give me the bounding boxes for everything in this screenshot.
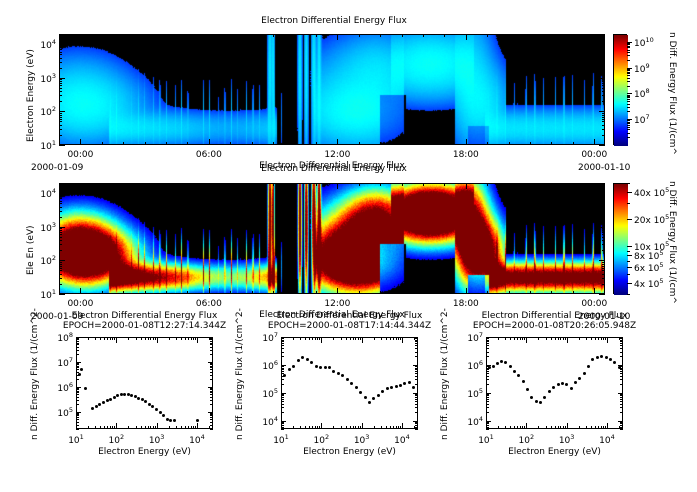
data-point <box>390 386 393 389</box>
spectrum-3-ytick-minor-right <box>620 340 623 341</box>
panel2-ytick-minor-right <box>602 217 605 218</box>
spectrum-1-xtick-minor <box>110 426 111 429</box>
panel1-ytick-minor <box>59 34 62 35</box>
panel2-ytick-minor-right <box>602 237 605 238</box>
spectrum-1-ytick-minor-right <box>210 417 213 418</box>
panel2-title: Electron Differential Energy Flux <box>159 164 509 174</box>
data-point <box>557 383 560 386</box>
spectrum-2-xtick-minor <box>414 426 415 429</box>
spectrum-3-ytick-minor-right <box>620 345 623 346</box>
spectrum-2-ytick-minor-right <box>415 356 418 357</box>
panel2-ytick-minor-right <box>602 244 605 245</box>
panel2-ytick-minor <box>59 268 62 269</box>
spectrum-2-ytick-minor <box>281 401 284 402</box>
spectrum-2-xtick-minor <box>396 426 397 429</box>
spectrum-2-xtick-minor <box>393 426 394 429</box>
panel1-ytick-minor <box>59 115 62 116</box>
spectrum-1-ytick-minor-right <box>210 429 213 430</box>
spectrum-3-xtick-minor-top <box>517 337 518 340</box>
spectrum-1-xtick-minor-top <box>95 337 96 340</box>
spectrum-3-xtick-minor-top <box>498 337 499 340</box>
panel1-ytick-label: 101 <box>32 139 56 152</box>
panel1-cbar-minor-tick <box>627 46 630 47</box>
panel1-xtick-minor <box>530 142 531 145</box>
spectrum-1-ylabel-wrap: n Diff. Energy Flux (1/(cm^2- <box>20 337 32 429</box>
spectrum-3-xtick-minor <box>563 426 564 429</box>
data-point <box>120 393 123 396</box>
spectrum-2-ytick-minor <box>281 371 284 372</box>
spectrum-3-xtick-label: 102 <box>511 433 541 446</box>
spectrum-2-xtick-minor <box>353 426 354 429</box>
spectrum-3-xtick-minor <box>551 426 552 429</box>
data-point <box>315 365 318 368</box>
spectrum-1-ytick-minor-right <box>210 347 213 348</box>
spectrum-1-xtick-minor-top <box>155 337 156 340</box>
spectrum-1-xtick-minor-top <box>141 337 142 340</box>
panel2-ytick-major <box>59 193 65 194</box>
panel2-xtick-top <box>145 183 146 186</box>
spectrum-3-xtick-minor-top <box>522 337 523 340</box>
panel2-cbar-minor-tick <box>627 219 630 220</box>
spectrum-2-ytick-minor <box>281 356 284 357</box>
spectrum-3-axes-frame[interactable] <box>486 337 623 429</box>
panel1-cbar-minor-tick <box>627 70 630 71</box>
spectrum-3-ytick-minor <box>486 397 489 398</box>
panel1-ytick-minor-right <box>602 91 605 92</box>
spectrum-1-xtick-minor-top <box>169 337 170 340</box>
panel2-ytick-label: 101 <box>32 288 56 301</box>
panel1-ytick-minor <box>59 68 62 69</box>
panel1-ytick-minor <box>59 101 62 102</box>
data-point <box>350 382 353 385</box>
panel2-xtick-top <box>123 183 124 186</box>
panel1-xtick-top <box>316 34 317 37</box>
spectrum-3-xtick-minor-top <box>538 337 539 340</box>
panel1-xtick-minor <box>573 142 574 145</box>
panel1-ytick-minor-right <box>602 88 605 89</box>
panel2-ytick-minor-right <box>602 201 605 202</box>
spectrum-2-xtick-minor-top <box>309 337 310 340</box>
spectrum-2-ytick-minor-right <box>415 394 418 395</box>
panel1-xtick-top <box>402 34 403 37</box>
panel1-ytick-minor <box>59 91 62 92</box>
spectrum-1-xtick-minor <box>116 426 117 429</box>
data-point <box>386 387 389 390</box>
spectrum-1-xtick-minor-top <box>150 337 151 340</box>
panel1-ytick-minor <box>59 52 62 53</box>
spectrum-3-ytick-minor-right <box>620 395 623 396</box>
panel1-xtick-minor <box>123 142 124 145</box>
panel2-ytick-minor-right <box>602 284 605 285</box>
panel1-xtick-top <box>102 34 103 37</box>
spectrum-3-xtick-minor-top <box>579 337 580 340</box>
spectrum-2-ytick-minor <box>281 395 284 396</box>
spectrum-1-xtick-minor-top <box>116 337 117 340</box>
spectrum-2-xtick-minor <box>398 426 399 429</box>
spectrum-3-xtick-minor <box>565 426 566 429</box>
data-point <box>78 373 81 376</box>
spectrum-3-xtick-minor <box>601 426 602 429</box>
panel2-xtick-minor <box>530 291 531 294</box>
panel2-xtick-label: 18:00 <box>449 299 483 309</box>
data-point <box>605 356 608 359</box>
spectrum-1-ytick-minor <box>76 350 79 351</box>
spectrum-2-xtick-label: 104 <box>387 433 417 446</box>
spectrum-1-ytick-minor-right <box>210 354 213 355</box>
spectrum-1-ytick-minor <box>76 379 79 380</box>
data-point <box>596 356 599 359</box>
panel1-ytick-major <box>59 145 65 146</box>
panel2-xtick-minor <box>145 291 146 294</box>
spectrum-2-ytick-minor-right <box>415 373 418 374</box>
data-point <box>509 365 512 368</box>
data-point <box>113 396 116 399</box>
spectrum-2-xtick-minor <box>312 426 313 429</box>
panel1-ytick-minor <box>59 117 62 118</box>
spectrum-2-ytick-minor <box>281 366 284 367</box>
spectrum-2-xtick-minor <box>317 426 318 429</box>
spectrum-1-ytick-minor <box>76 363 79 364</box>
panel2-cbar-minor-tick <box>627 251 630 252</box>
spectrum-1-xtick-minor <box>195 426 196 429</box>
panel2-cbar-minor-tick <box>627 183 630 184</box>
spectrum-3-xtick-minor <box>505 426 506 429</box>
panel1-ytick-minor <box>59 83 62 84</box>
spectrum-2-ytick-label: 105 <box>254 387 278 400</box>
panel1-cbar-minor-tick <box>627 60 630 61</box>
panel2-xtick-minor <box>252 291 253 294</box>
spectrum-2-ytick-label: 104 <box>254 415 278 428</box>
panel2-ytick-minor <box>59 284 62 285</box>
spectrum-3-xtick-minor <box>524 426 525 429</box>
spectrum-1-xtick-minor <box>155 426 156 429</box>
spectrum-3-xtick-minor-top <box>558 337 559 340</box>
panel1-ytick-major <box>59 111 65 112</box>
panel1-xtick-major <box>209 139 210 145</box>
spectrum-2-xtick-minor <box>321 426 322 429</box>
figure-canvas: Electron Differential Energy Flux Electr… <box>0 0 697 492</box>
panel2-ytick-minor-right <box>602 268 605 269</box>
spectrum-3-ytick-minor-right <box>620 356 623 357</box>
panel1-xtick-top <box>487 34 488 37</box>
panel2-ytick-minor <box>59 230 62 231</box>
data-point <box>548 390 551 393</box>
panel1-ytick-minor <box>59 47 62 48</box>
spectrum-2-xtick-minor-top <box>360 337 361 340</box>
panel1-xtick-minor <box>316 142 317 145</box>
data-point <box>552 386 555 389</box>
spectrum-1-xtick-minor-top <box>112 337 113 340</box>
spectrum-2-ytick-minor <box>281 397 284 398</box>
spectrum-3-ytick-minor <box>486 407 489 408</box>
spectrum-1-xtick-minor-top <box>185 337 186 340</box>
panel1-cbar-tick <box>627 93 632 94</box>
panel1-cbar-minor-tick <box>627 75 630 76</box>
data-point <box>570 387 573 390</box>
spectrum-2-xtick-minor-top <box>321 337 322 340</box>
spectrum-1-ytick-minor-right <box>210 343 213 344</box>
spectrum-2-ytick-minor <box>281 393 284 394</box>
panel2-ytick-minor-right <box>602 264 605 265</box>
spectrum-2-xtick-minor-top <box>315 337 316 340</box>
panel2-ytick-minor-right <box>602 211 605 212</box>
panel2-ytick-minor-right <box>602 250 605 251</box>
spectrum-2-xtick-minor <box>281 426 282 429</box>
panel1-cbar-minor-tick <box>627 104 630 105</box>
spectrum-2-xtick-minor-top <box>300 337 301 340</box>
spectrum-1-ytick-minor <box>76 419 79 420</box>
spectrum-1-xtick-minor <box>107 426 108 429</box>
spectrum-3-title: Electron Differential Energy Flux <box>416 311 693 321</box>
panel1-xtick-minor <box>444 142 445 145</box>
panel1-ytick-minor-right <box>602 129 605 130</box>
panel2-cbar-minor-tick <box>627 283 630 284</box>
spectrum-1-xtick-minor <box>136 426 137 429</box>
panel1-ytick-minor-right <box>602 81 605 82</box>
panel1-ytick-minor <box>59 119 62 120</box>
panel2-ylabel-wrap: Ele En (eV) <box>16 190 28 305</box>
spectrum-2-ytick-minor <box>281 404 284 405</box>
spectrum-2-ytick-minor-right <box>415 422 418 423</box>
panel2-xtick-top <box>187 183 188 186</box>
spectrum-3-xtick-minor-top <box>555 337 556 340</box>
panel1-ytick-minor-right <box>602 119 605 120</box>
spectrum-1-xtick-minor <box>88 426 89 429</box>
panel1-colorbar-label: n Diff. Energy Flux (1/(cm^ <box>667 32 677 155</box>
spectrum-1-ytick-minor-right <box>210 372 213 373</box>
panel2-ytick-label: 102 <box>32 254 56 267</box>
panel1-cbar-minor-tick <box>627 47 630 48</box>
panel1-cbar-minor-tick <box>627 99 630 100</box>
spectrum-1-xtick-minor-top <box>209 337 210 340</box>
panel1-xtick-major <box>594 139 595 145</box>
spectrum-2-xtick-minor <box>381 426 382 429</box>
spectrum-2-ytick-minor <box>281 368 284 369</box>
spectrum-3-ytick-minor <box>486 384 489 385</box>
data-point <box>522 380 525 383</box>
spectrum-3-xtick-minor <box>607 426 608 429</box>
spectrum-1-ytick-label: 107 <box>49 356 73 369</box>
spectrum-1-xtick-minor <box>104 426 105 429</box>
panel2-ytick-minor-right <box>602 262 605 263</box>
spectrum-1-xtick-label: 101 <box>61 433 91 446</box>
spectrum-1-ytick-minor <box>76 354 79 355</box>
spectrum-1-ytick-minor-right <box>210 415 213 416</box>
spectrum-2-ytick-minor-right <box>415 343 418 344</box>
spectrum-1-ytick-minor-right <box>210 388 213 389</box>
panel1-ytick-minor <box>59 95 62 96</box>
spectrum-3-xtick-minor <box>555 426 556 429</box>
spectrum-3-ytick-minor <box>486 379 489 380</box>
spectrum-2-xtick-minor-top <box>358 337 359 340</box>
spectrum-2-ytick-minor-right <box>415 407 418 408</box>
panel2-cbar-minor-tick <box>627 203 630 204</box>
panel2-ytick-minor <box>59 250 62 251</box>
panel2-xtick-minor <box>551 291 552 294</box>
spectrum-3-xtick-minor-top <box>546 337 547 340</box>
spectrum-3-ytick-minor-right <box>620 427 623 428</box>
spectrum-2-ytick-minor-right <box>415 348 418 349</box>
spectrum-1-xtick-minor <box>100 426 101 429</box>
spectrum-3-ytick-minor <box>486 404 489 405</box>
spectrum-2-xtick-minor-top <box>402 337 403 340</box>
panel1-ytick-minor <box>59 81 62 82</box>
spectrum-3-xtick-label: 104 <box>592 433 622 446</box>
spectrum-1-xtick-minor <box>157 426 158 429</box>
spectrum-1-xtick-minor-top <box>110 337 111 340</box>
panel1-ytick-minor <box>59 125 62 126</box>
panel1-ytick-minor <box>59 46 62 47</box>
spectrum-3-ytick-minor <box>486 369 489 370</box>
spectrum-2-xtick-minor-top <box>346 337 347 340</box>
panel2-xtick-major <box>337 288 338 294</box>
panel2-ytick-minor <box>59 232 62 233</box>
panel1-xtick-top <box>380 34 381 37</box>
spectrum-3-xtick-minor-top <box>514 337 515 340</box>
spectrum-1-xtick-label: 104 <box>182 433 212 446</box>
panel2-ytick-minor <box>59 228 62 229</box>
data-point <box>324 366 327 369</box>
spectrum-1-xtick-minor-top <box>191 337 192 340</box>
panel1-cbar-minor-tick <box>627 44 630 45</box>
panel1-xtick-minor <box>551 142 552 145</box>
spectrum-3-ylabel-wrap: n Diff. Energy Flux (1/(cm^2- <box>430 337 442 429</box>
spectrum-2-ytick-minor <box>281 348 284 349</box>
panel2-xtick-minor <box>487 291 488 294</box>
spectrum-2-ytick-minor-right <box>415 412 418 413</box>
spectrum-3-ytick-minor-right <box>620 337 623 338</box>
spectrum-2-xtick-minor-top <box>293 337 294 340</box>
spectrum-2-ytick-minor-right <box>415 384 418 385</box>
spectrum-3-xtick-minor-top <box>567 337 568 340</box>
panel2-colorbar[interactable] <box>613 183 627 294</box>
spectrum-1-ytick-label: 106 <box>49 381 73 394</box>
panel1-xtick-top <box>359 34 360 37</box>
spectrum-1-xtick-minor-top <box>181 337 182 340</box>
spectrum-2-ytick-minor-right <box>415 425 418 426</box>
panel1-ytick-minor-right <box>602 125 605 126</box>
data-point <box>346 378 349 381</box>
panel2-xtick-minor <box>123 291 124 294</box>
panel1-xtick-major <box>80 139 81 145</box>
spectrum-3-ytick-minor-right <box>620 425 623 426</box>
spectrum-1-ytick-minor <box>76 417 79 418</box>
spectrum-2-ytick-minor <box>281 384 284 385</box>
spectrum-1-xtick-minor <box>141 426 142 429</box>
panel1-ytick-minor-right <box>602 34 605 35</box>
panel1-xtick-minor <box>423 142 424 145</box>
panel2-ytick-minor <box>59 203 62 204</box>
spectrum-3-ytick-minor <box>486 352 489 353</box>
panel1-ytick-minor <box>59 85 62 86</box>
spectrum-3-xtick-minor-top <box>565 337 566 340</box>
panel1-xtick-top <box>594 34 595 40</box>
spectrum-3-ytick-minor-right <box>620 384 623 385</box>
spectrum-3-xtick-minor <box>605 426 606 429</box>
spectrum-3-xtick-minor <box>619 426 620 429</box>
panel1-cbar-tick-label: 109 <box>634 62 650 75</box>
spectrum-3-ytick-minor <box>486 395 489 396</box>
spectrum-3-xtick-minor <box>526 426 527 429</box>
spectrum-1-xtick-minor <box>150 426 151 429</box>
panel1-ytick-minor-right <box>602 121 605 122</box>
spectrum-3-xtick-minor <box>567 426 568 429</box>
spectrum-3-xtick-label: 103 <box>552 433 582 446</box>
panel2-ytick-major <box>59 294 65 295</box>
spectrum-3-ytick-minor <box>486 401 489 402</box>
panel1-colorbar[interactable] <box>613 34 627 145</box>
spectrum-2-xtick-minor-top <box>374 337 375 340</box>
panel1-ytick-minor-right <box>602 52 605 53</box>
data-point <box>583 372 586 375</box>
spectrum-1-ytick-minor-right <box>210 379 213 380</box>
panel2-ytick-minor <box>59 266 62 267</box>
spectrum-2-ytick-minor <box>281 394 284 395</box>
panel2-ytick-minor-right <box>602 195 605 196</box>
spectrum-1-xtick-minor <box>209 426 210 429</box>
panel1-cbar-minor-tick <box>627 129 630 130</box>
spectrum-2-xtick-label: 101 <box>266 433 296 446</box>
panel2-xtick-minor <box>380 291 381 294</box>
panel2-ytick-minor <box>59 262 62 263</box>
spectrum-2-xtick-minor <box>355 426 356 429</box>
panel1-ytick-minor-right <box>602 95 605 96</box>
spectrum-2-xtick-minor <box>358 426 359 429</box>
spectrum-2-xtick-minor <box>386 426 387 429</box>
panel1-cbar-tick-label: 1010 <box>634 36 654 49</box>
panel1-ylabel-wrap: Electron Energy (eV) <box>16 30 28 145</box>
panel1-ytick-minor-right <box>602 79 605 80</box>
spectrum-3-xtick-minor-top <box>510 337 511 340</box>
spectrum-2-xtick-minor-top <box>350 337 351 340</box>
panel1-xtick-top <box>187 34 188 37</box>
spectrum-1-ytick-minor-right <box>210 419 213 420</box>
data-point <box>109 398 112 401</box>
panel2-ytick-minor <box>59 244 62 245</box>
spectrum-2-xtick-minor <box>309 426 310 429</box>
spectrum-1-ytick-minor <box>76 389 79 390</box>
spectrum-2-xtick-minor-top <box>333 337 334 340</box>
panel1-ytick-minor <box>59 121 62 122</box>
data-point <box>288 368 291 371</box>
spectrum-1-ytick-minor <box>76 412 79 413</box>
spectrum-1-ytick-minor-right <box>210 341 213 342</box>
panel2-cbar-tick-label: 4x 105 <box>634 277 664 290</box>
panel1-xtick-top <box>295 34 296 37</box>
spectrum-1-ytick-minor-right <box>210 337 213 338</box>
spectrum-3-ytick-minor <box>486 394 489 395</box>
panel1-ytick-label: 102 <box>32 105 56 118</box>
spectrum-3-xtick-minor-top <box>563 337 564 340</box>
spectrum-2-xtick-minor-top <box>319 337 320 340</box>
panel2-cbar-tick-label: 6x 105 <box>634 261 664 274</box>
panel2-ytick-minor <box>59 211 62 212</box>
panel2-ytick-minor-right <box>602 230 605 231</box>
spectrum-1-xtick-minor <box>148 426 149 429</box>
panel1-xtick-minor <box>487 142 488 145</box>
spectrum-2-xtick-minor-top <box>414 337 415 340</box>
panel2-xtick-top <box>487 183 488 186</box>
spectrum-2-xtick-minor-top <box>317 337 318 340</box>
spectrum-3-ytick-minor-right <box>620 369 623 370</box>
spectrum-1-axes-frame[interactable] <box>76 337 213 429</box>
panel1-xdate-left: 2000-01-09 <box>31 163 83 173</box>
spectrum-1-xtick-label: 102 <box>101 433 131 446</box>
panel2-ytick-minor-right <box>602 183 605 184</box>
panel2-ytick-major-right <box>599 294 605 295</box>
spectrum-2-ytick-minor-right <box>415 338 418 339</box>
panel2-xtick-top <box>402 183 403 186</box>
